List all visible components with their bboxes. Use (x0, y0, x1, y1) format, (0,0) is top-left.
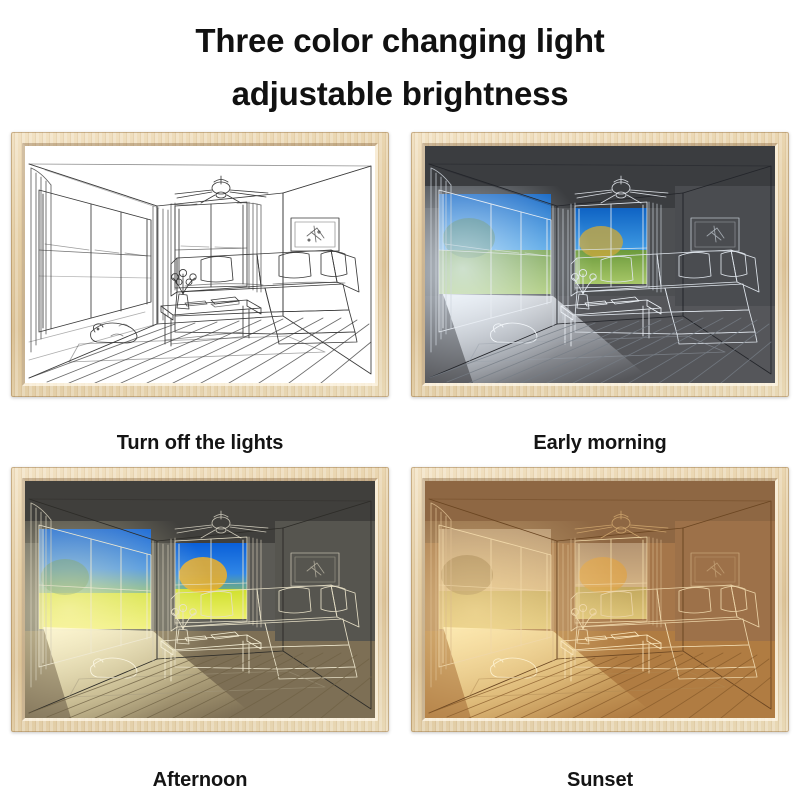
panel-lights-off[interactable]: Turn off the lights (0, 126, 400, 463)
room-scene-svg (425, 146, 775, 383)
wood-frame (11, 132, 389, 397)
room-scene-svg (425, 481, 775, 718)
light-panel-artwork (425, 481, 775, 718)
light-panel-artwork (25, 481, 375, 718)
panel-caption: Sunset (400, 769, 800, 792)
room-scene-svg (25, 481, 375, 718)
panel-grid: Turn off the lights (0, 126, 800, 800)
panel-caption: Early morning (400, 432, 800, 455)
light-beam (425, 521, 659, 718)
panel-early-morning[interactable]: Early morning (400, 126, 800, 463)
panel-caption: Turn off the lights (0, 432, 400, 455)
wood-frame (411, 132, 789, 397)
wood-frame (411, 467, 789, 732)
light-panel-artwork (25, 146, 375, 383)
headline-line-1: Three color changing light (195, 22, 604, 59)
page-title: Three color changing light adjustable br… (0, 14, 800, 121)
light-panel-artwork (425, 146, 775, 383)
window-views (39, 194, 247, 294)
headline-line-2: adjustable brightness (0, 67, 800, 120)
panel-sunset[interactable]: Sunset (400, 463, 800, 800)
panel-afternoon[interactable]: Afternoon (0, 463, 400, 800)
room-scene-svg (25, 146, 375, 383)
panel-caption: Afternoon (0, 769, 400, 792)
wood-frame (11, 467, 389, 732)
